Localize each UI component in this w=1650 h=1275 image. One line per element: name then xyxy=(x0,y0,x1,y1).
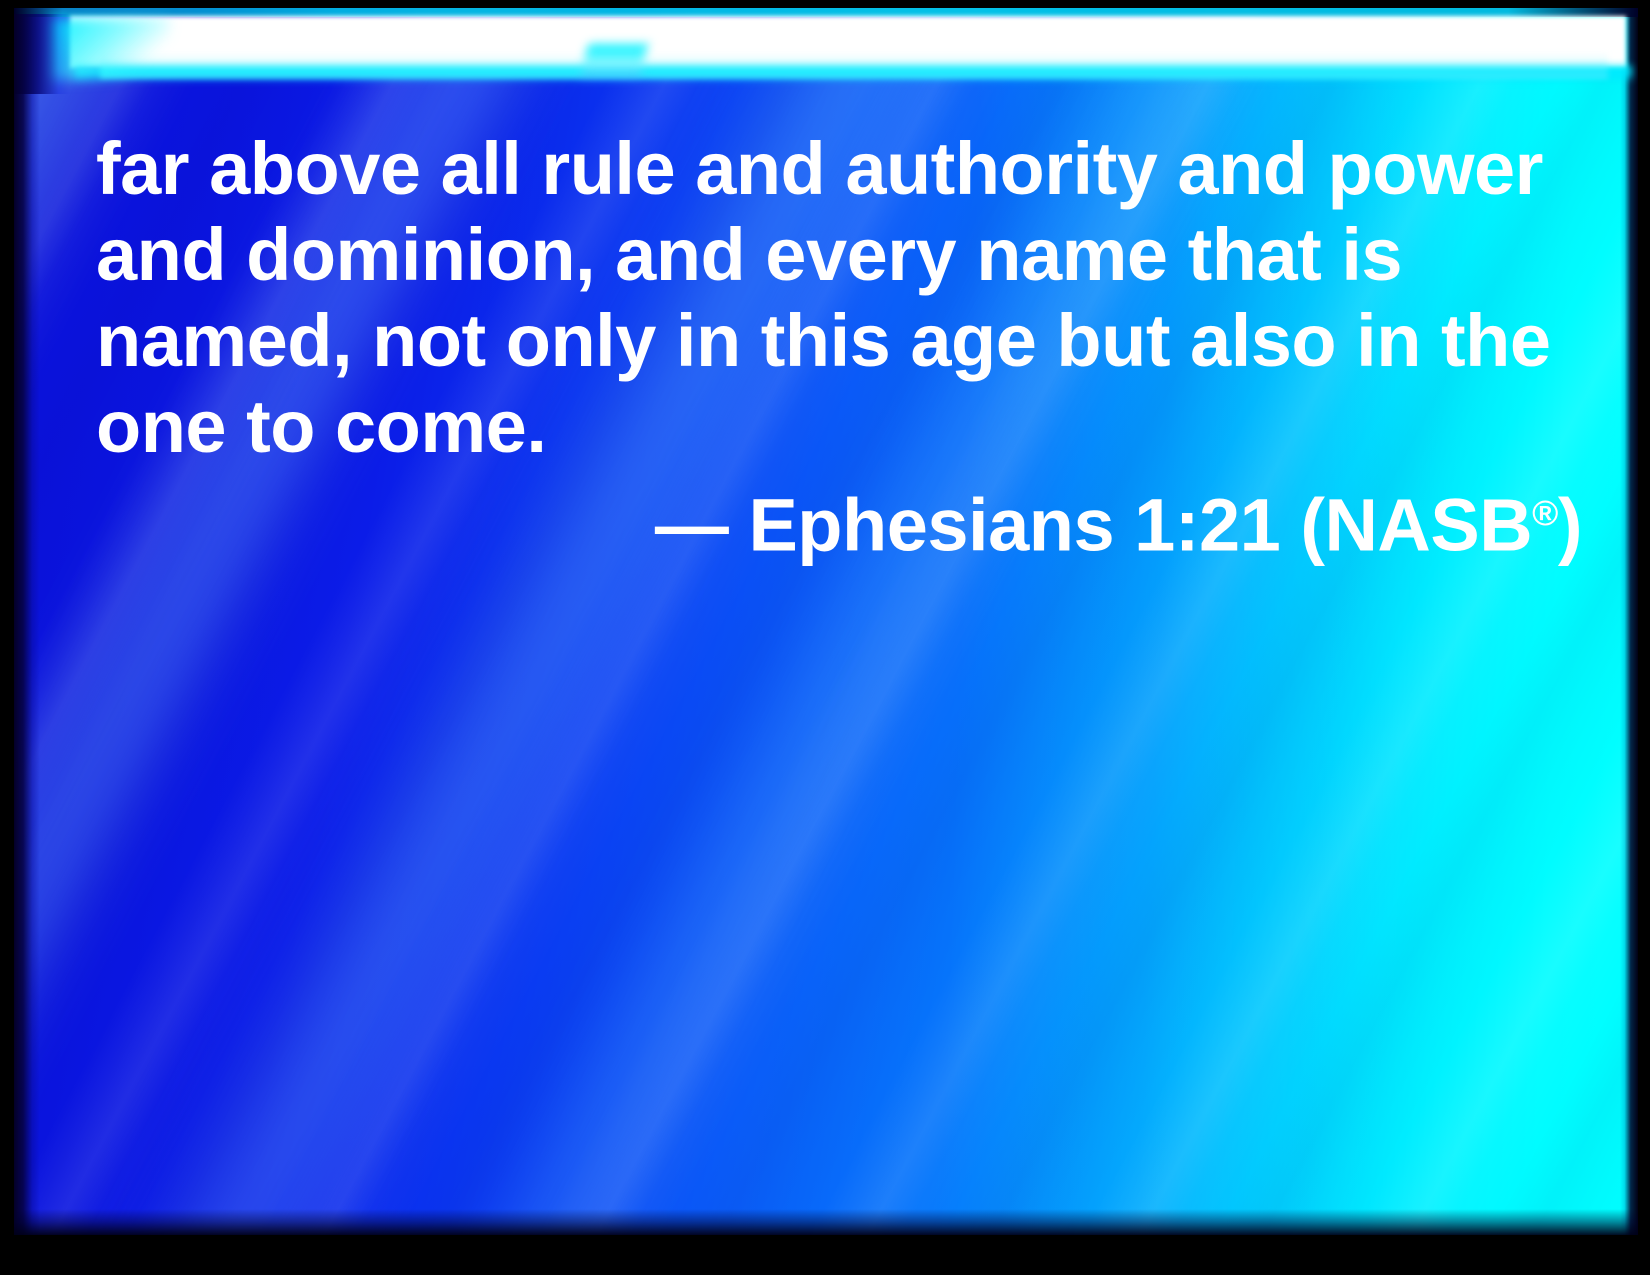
attribution-translation-open: (NASB xyxy=(1300,484,1532,567)
slide-canvas: far above all rule and authority and pow… xyxy=(14,8,1638,1235)
right-edge-shadow xyxy=(1620,8,1638,1235)
verse-text: far above all rule and authority and pow… xyxy=(96,126,1582,470)
verse-line-3: named, not only in this age but also in … xyxy=(96,298,1582,384)
attribution-dash: — xyxy=(655,484,729,567)
attribution-translation-close: ) xyxy=(1558,484,1582,567)
scripture-slide: far above all rule and authority and pow… xyxy=(0,0,1650,1275)
registered-trademark-icon: ® xyxy=(1532,493,1558,533)
attribution-book: Ephesians xyxy=(748,484,1114,567)
verse-attribution: — Ephesians 1:21 (NASB®) xyxy=(96,470,1582,569)
verse-line-1: far above all rule and authority and pow… xyxy=(96,126,1582,212)
left-edge-shadow xyxy=(14,8,40,1235)
bottom-edge-shadow xyxy=(14,1209,1638,1235)
attribution-reference: 1:21 xyxy=(1134,484,1280,567)
verse-line-4: one to come. xyxy=(96,384,1582,470)
verse-line-2: and dominion, and every name that is xyxy=(96,212,1582,298)
